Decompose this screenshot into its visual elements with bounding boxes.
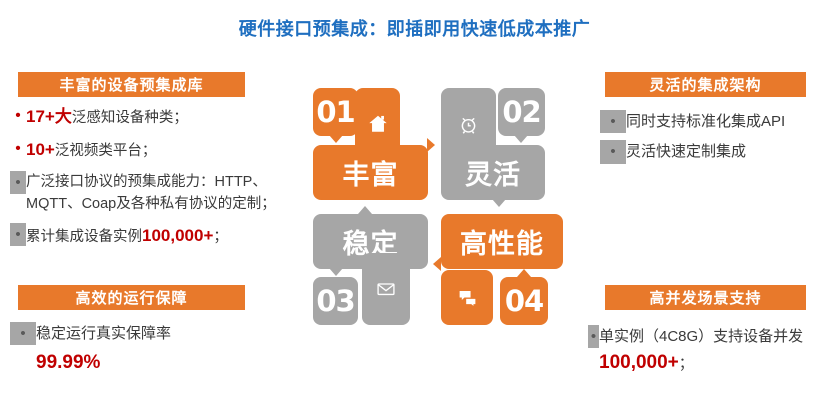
list-item: • 稳定运行真实保障率 xyxy=(10,322,295,345)
page-title: 硬件接口预集成：即插即用快速低成本推广 xyxy=(0,15,829,41)
chat-bubble-icon xyxy=(457,287,478,308)
list-item-text: 广泛接口协议的预集成能力：HTTP、MQTT、Coap及各种私有协议的定制； xyxy=(26,171,295,216)
list-item-suffix: ； xyxy=(213,229,228,245)
bullet-dot: • xyxy=(10,223,26,246)
quadrant-01-side-pointer xyxy=(427,138,435,152)
quadrant-02-badge-pointer xyxy=(514,135,528,143)
bullet-dot: • xyxy=(10,171,26,194)
bullet-list-right-top: • 同时支持标准化集成API • 灵活快速定制集成 xyxy=(600,110,829,171)
list-item-suffix: 泛感知设备种类； xyxy=(72,110,188,126)
list-item: • 灵活快速定制集成 xyxy=(600,140,829,163)
list-item: • 10+泛视频类平台； xyxy=(10,137,295,163)
bullet-dot: • xyxy=(10,104,26,127)
highlight-number: 100,000+ xyxy=(142,226,213,245)
quadrant-01-badge-pointer xyxy=(329,135,343,143)
envelope-icon xyxy=(376,279,396,299)
list-item-text: 灵活快速定制集成 xyxy=(626,140,829,163)
list-item: • 广泛接口协议的预集成能力：HTTP、MQTT、Coap及各种私有协议的定制； xyxy=(10,171,295,216)
list-item-text: 10+泛视频类平台； xyxy=(26,137,295,163)
quadrant-04-side-pointer xyxy=(433,257,441,271)
list-item-text: 同时支持标准化集成API xyxy=(626,110,829,133)
section-header-right-bottom: 高并发场景支持 xyxy=(605,285,806,310)
bullet-dot: • xyxy=(600,140,626,163)
quadrant-03-icon-panel xyxy=(362,253,410,325)
section-header-left-bottom: 高效的运行保障 xyxy=(18,285,245,310)
bullet-list-left-bottom: • 稳定运行真实保障率 99.99% xyxy=(10,322,295,374)
list-item-text: 单实例（4C8G）支持设备并发100,000+； xyxy=(599,325,829,378)
bullet-dot: • xyxy=(10,322,36,345)
list-item-text: 稳定运行真实保障率 xyxy=(36,322,295,345)
list-item-suffix: 泛视频类平台； xyxy=(55,143,157,159)
list-item-text: 17+大泛感知设备种类； xyxy=(26,104,295,130)
quadrant-04-badge-pointer xyxy=(517,269,531,277)
slide-root: 硬件接口预集成：即插即用快速低成本推广 丰富的设备预集成库 • 17+大泛感知设… xyxy=(0,0,829,415)
bullet-dot: • xyxy=(588,325,599,348)
quadrant-04-icon-panel xyxy=(441,270,493,325)
quadrant-02-bottom-pointer xyxy=(492,199,506,207)
list-item-prefix: 单实例（4C8G）支持设备并发 xyxy=(599,328,803,345)
list-item: • 累计集成设备实例100,000+； xyxy=(10,223,295,249)
quadrant-04-label: 高性能 xyxy=(441,214,563,269)
quadrant-04-number-badge: 04 xyxy=(500,277,548,325)
quadrant-03-number-badge: 03 xyxy=(313,277,358,325)
list-item: • 单实例（4C8G）支持设备并发100,000+； xyxy=(588,325,829,378)
quadrant-03-badge-pointer xyxy=(329,268,343,276)
section-header-left-top: 丰富的设备预集成库 xyxy=(18,72,245,97)
quadrant-02-number-badge: 02 xyxy=(498,88,545,136)
quadrant-02-label: 灵活 xyxy=(441,145,545,200)
alarm-clock-icon xyxy=(458,114,479,135)
highlight-number: 17+大 xyxy=(26,107,72,126)
highlight-number: 100,000+ xyxy=(599,352,679,373)
bullet-dot: • xyxy=(600,110,626,133)
home-icon xyxy=(367,113,389,135)
bullet-dot: • xyxy=(10,137,26,160)
quadrant-01-number-badge: 01 xyxy=(313,88,358,136)
list-item: • 同时支持标准化集成API xyxy=(600,110,829,133)
highlight-number: 10+ xyxy=(26,140,55,159)
quadrant-03-top-pointer xyxy=(358,206,372,214)
bullet-list-right-bottom: • 单实例（4C8G）支持设备并发100,000+； xyxy=(588,325,829,385)
list-item-suffix: ； xyxy=(679,355,694,372)
list-item: • 17+大泛感知设备种类； xyxy=(10,104,295,130)
quadrant-01-label: 丰富 xyxy=(313,145,428,200)
section-header-right-top: 灵活的集成架构 xyxy=(605,72,806,97)
list-item-prefix: 累计集成设备实例 xyxy=(26,229,142,245)
uptime-stat: 99.99% xyxy=(36,352,295,374)
list-item-text: 累计集成设备实例100,000+； xyxy=(26,223,295,249)
bullet-list-left-top: • 17+大泛感知设备种类； • 10+泛视频类平台； • 广泛接口协议的预集成… xyxy=(10,104,295,256)
